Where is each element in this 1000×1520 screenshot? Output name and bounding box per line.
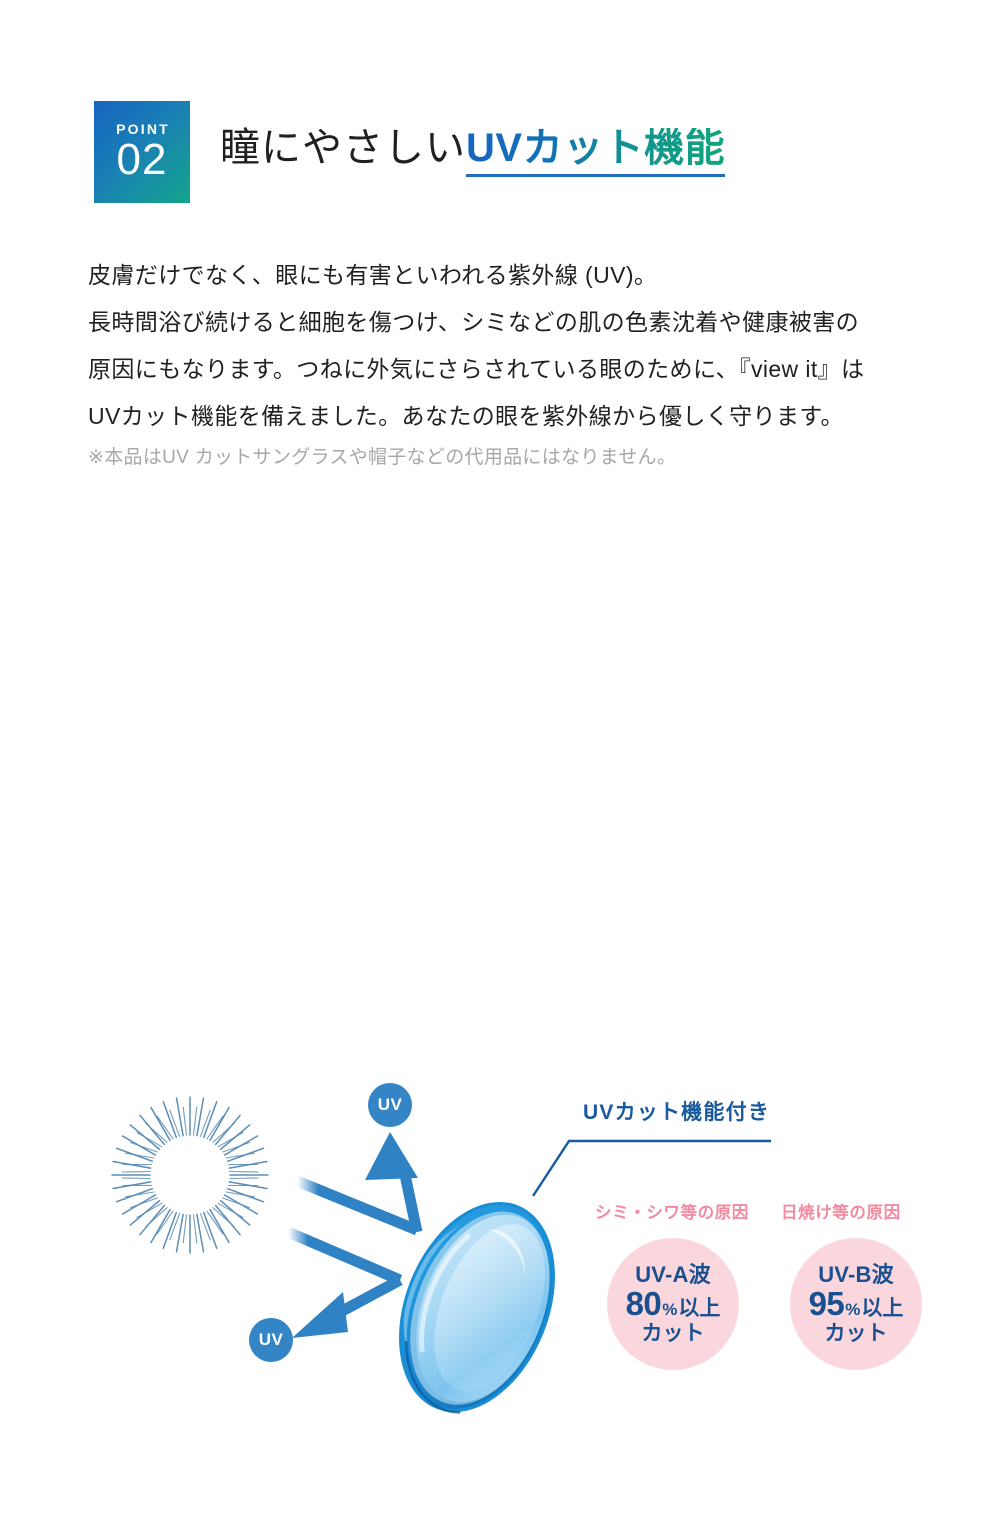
uvb-value: 95 — [809, 1287, 845, 1322]
uva-value-row: 80 % 以上 — [626, 1287, 721, 1322]
page-title-accent: UVカット機能 — [466, 128, 725, 177]
uvb-caption: 日焼け等の原因 — [781, 1199, 901, 1223]
uva-percent-sign: % — [662, 1301, 677, 1319]
uva-caption: シミ・シワ等の原因 — [595, 1199, 749, 1223]
leader-line — [533, 1141, 771, 1196]
uv-badge-top: UV — [368, 1083, 412, 1127]
page-title: 瞳にやさしいUVカット機能 — [220, 128, 725, 177]
body-line-1: 皮膚だけでなく、眼にも有害といわれる紫外線 (UV)。 — [88, 252, 928, 299]
uv-diagram: UV UV UVカット機能付き シミ・シワ等の原因 日焼け等の原因 UV-A波 … — [0, 520, 1000, 940]
body-line-3: 原因にもなります。つねに外気にさらされている眼のために、『view it』は — [88, 346, 928, 393]
uva-wave-label: UV-A波 — [635, 1263, 711, 1286]
body-line-4: UVカット機能を備えました。あなたの眼を紫外線から優しく守ります。 — [88, 393, 928, 440]
uvb-wave-label: UV-B波 — [818, 1263, 894, 1286]
disclaimer-note: ※本品はUV カットサングラスや帽子などの代用品にはなりません。 — [88, 443, 676, 473]
uvb-cut-label: カット — [825, 1322, 888, 1345]
uvb-value-row: 95 % 以上 — [809, 1287, 904, 1322]
body-line-2: 長時間浴び続けると細胞を傷つけ、シミなどの肌の色素沈着や健康被害の — [88, 299, 928, 346]
uv-diagram-graphics — [0, 520, 1000, 1520]
uva-over-label: 以上 — [678, 1298, 720, 1320]
uvb-stat-circle: UV-B波 95 % 以上 カット — [790, 1238, 922, 1370]
point-badge-number: 02 — [117, 138, 168, 182]
uva-value: 80 — [626, 1287, 662, 1322]
point-badge-word: POINT — [114, 122, 170, 136]
uv-cut-feature-label: UVカット機能付き — [583, 1096, 770, 1126]
point-header: POINT 02 瞳にやさしいUVカット機能 — [94, 101, 725, 204]
uvb-percent-sign: % — [845, 1301, 860, 1319]
page-title-plain: 瞳にやさしい — [220, 128, 466, 168]
sunburst-rays-icon — [112, 1097, 268, 1253]
uv-ray-arrow-up-icon — [297, 1132, 418, 1232]
uvb-over-label: 以上 — [861, 1298, 903, 1320]
uva-stat-circle: UV-A波 80 % 以上 カット — [607, 1238, 739, 1370]
uv-ray-arrow-down-icon — [288, 1232, 400, 1338]
body-copy: 皮膚だけでなく、眼にも有害といわれる紫外線 (UV)。 長時間浴び続けると細胞を… — [88, 252, 928, 440]
uva-cut-label: カット — [642, 1322, 705, 1345]
uv-badge-bottom: UV — [249, 1318, 293, 1362]
point-badge: POINT 02 — [94, 101, 190, 203]
